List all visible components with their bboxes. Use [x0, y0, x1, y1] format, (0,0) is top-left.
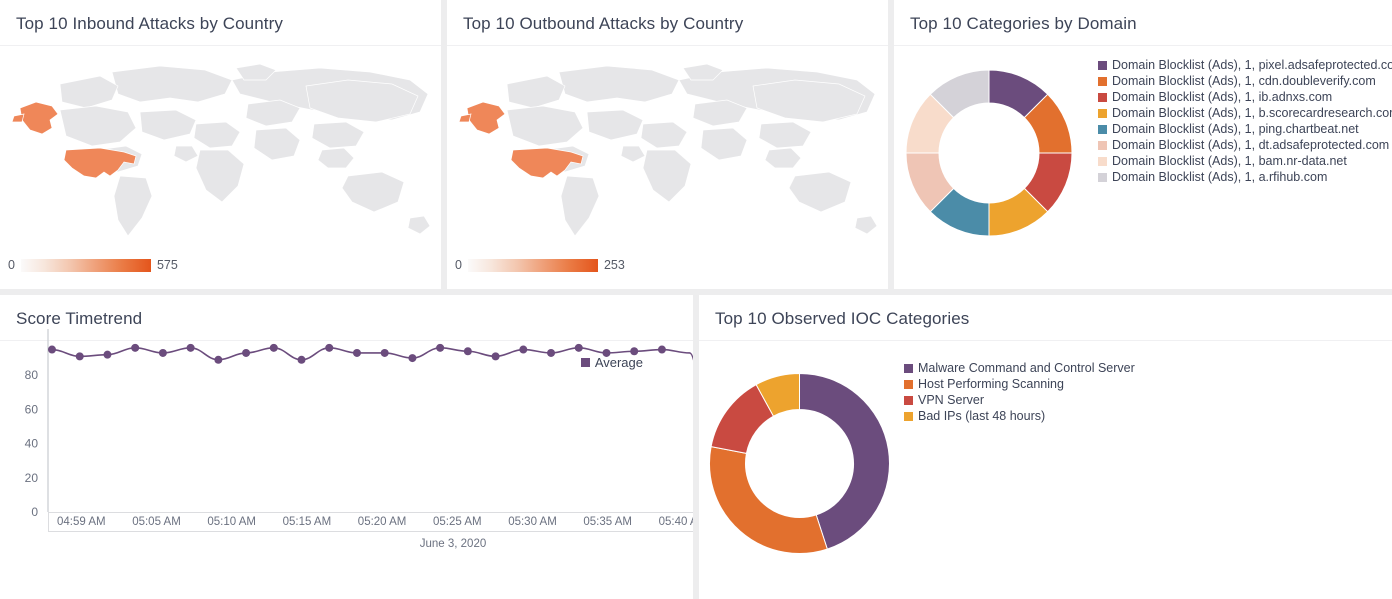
- legend-label: Domain Blocklist (Ads), 1, ping.chartbea…: [1112, 122, 1359, 137]
- x-axis-tick-label: 05:30 AM: [508, 516, 557, 528]
- legend-label: Bad IPs (last 48 hours): [918, 409, 1045, 424]
- donut-icon[interactable]: [707, 371, 892, 556]
- legend-swatch: [1098, 61, 1107, 70]
- legend-item[interactable]: VPN Server: [904, 393, 1135, 408]
- panel-title-inbound: Top 10 Inbound Attacks by Country: [0, 0, 441, 46]
- data-point[interactable]: [131, 344, 139, 352]
- panel-outbound-attacks[interactable]: Top 10 Outbound Attacks by Country: [447, 0, 888, 289]
- legend-item[interactable]: Domain Blocklist (Ads), 1, dt.adsafeprot…: [1098, 138, 1392, 153]
- panel-observed-ioc[interactable]: Top 10 Observed IOC Categories Malware C…: [699, 295, 1392, 599]
- legend-swatch: [1098, 125, 1107, 134]
- data-point[interactable]: [214, 356, 222, 364]
- outbound-map[interactable]: 0 253: [447, 46, 888, 289]
- data-point[interactable]: [76, 352, 84, 360]
- categories-donut-chart[interactable]: [904, 68, 1074, 243]
- x-axis-tick-label: 05:35 AM: [583, 516, 632, 528]
- x-axis-tick-label: 05:20 AM: [358, 516, 407, 528]
- legend-swatch: [904, 396, 913, 405]
- x-axis-tick-label: 05:40 AM: [659, 516, 693, 528]
- data-point[interactable]: [381, 349, 389, 357]
- legend-item[interactable]: Domain Blocklist (Ads), 1, cdn.doublever…: [1098, 74, 1392, 89]
- outbound-map-body[interactable]: 0 253: [447, 46, 888, 289]
- data-point[interactable]: [436, 344, 444, 352]
- legend-swatch: [1098, 77, 1107, 86]
- data-point[interactable]: [270, 344, 278, 352]
- y-axis-tick-label: 80: [25, 368, 39, 382]
- scale-min-label: 0: [455, 258, 462, 272]
- timetrend-date-label: June 3, 2020: [0, 538, 693, 550]
- ioc-donut-chart[interactable]: [707, 371, 892, 561]
- legend-item[interactable]: Domain Blocklist (Ads), 1, a.rfihub.com: [1098, 170, 1392, 185]
- data-point[interactable]: [408, 354, 416, 362]
- timetrend-body[interactable]: 020406080 04:59 AM05:05 AM05:10 AM05:15 …: [0, 295, 693, 599]
- data-point[interactable]: [464, 347, 472, 355]
- legend-item[interactable]: Bad IPs (last 48 hours): [904, 409, 1135, 424]
- legend-label: Domain Blocklist (Ads), 1, cdn.doublever…: [1112, 74, 1376, 89]
- legend-item[interactable]: Domain Blocklist (Ads), 1, b.scorecardre…: [1098, 106, 1392, 121]
- legend-label: Host Performing Scanning: [918, 377, 1064, 392]
- x-axis-tick-label: 05:15 AM: [283, 516, 332, 528]
- donut-icon[interactable]: [904, 68, 1074, 238]
- legend-swatch: [904, 364, 913, 373]
- legend-label: Domain Blocklist (Ads), 1, pixel.adsafep…: [1112, 58, 1392, 73]
- legend-swatch: [1098, 93, 1107, 102]
- scale-gradient-bar: [468, 259, 598, 272]
- x-axis-tick-label: 05:25 AM: [433, 516, 482, 528]
- y-axis-tick-label: 60: [25, 402, 39, 416]
- legend-label: Domain Blocklist (Ads), 1, bam.nr-data.n…: [1112, 154, 1347, 169]
- scale-max-label: 575: [157, 258, 178, 272]
- categories-donut-body[interactable]: Domain Blocklist (Ads), 1, pixel.adsafep…: [894, 46, 1392, 289]
- scale-gradient-bar: [21, 259, 151, 272]
- data-point[interactable]: [103, 351, 111, 359]
- legend-label: VPN Server: [918, 393, 984, 408]
- scale-max-label: 253: [604, 258, 625, 272]
- data-point[interactable]: [325, 344, 333, 352]
- data-point[interactable]: [519, 346, 527, 354]
- legend-label: Domain Blocklist (Ads), 1, a.rfihub.com: [1112, 170, 1327, 185]
- y-axis-tick-label: 20: [25, 471, 39, 485]
- data-point[interactable]: [353, 349, 361, 357]
- x-axis-tick-label: 05:05 AM: [132, 516, 181, 528]
- inbound-color-scale: 0 575: [8, 258, 178, 272]
- legend-label: Domain Blocklist (Ads), 1, ib.adnxs.com: [1112, 90, 1332, 105]
- panel-title-outbound: Top 10 Outbound Attacks by Country: [447, 0, 888, 46]
- panel-inbound-attacks[interactable]: Top 10 Inbound Attacks by Country: [0, 0, 441, 289]
- x-axis-tick-label: 05:10 AM: [207, 516, 256, 528]
- legend-swatch: [1098, 141, 1107, 150]
- legend-item[interactable]: Domain Blocklist (Ads), 1, ib.adnxs.com: [1098, 90, 1392, 105]
- dashboard-row-top: Top 10 Inbound Attacks by Country: [0, 0, 1392, 289]
- timetrend-legend[interactable]: Average: [581, 355, 643, 370]
- timetrend-x-axis[interactable]: 04:59 AM05:05 AM05:10 AM05:15 AM05:20 AM…: [48, 512, 693, 532]
- categories-legend[interactable]: Domain Blocklist (Ads), 1, pixel.adsafep…: [1098, 58, 1392, 185]
- y-axis-tick-label: 40: [25, 437, 39, 451]
- ioc-legend[interactable]: Malware Command and Control ServerHost P…: [904, 361, 1135, 424]
- timetrend-line-chart[interactable]: 020406080: [0, 295, 693, 545]
- legend-label-average: Average: [595, 355, 643, 370]
- data-point[interactable]: [242, 349, 250, 357]
- data-point[interactable]: [159, 349, 167, 357]
- legend-swatch: [904, 380, 913, 389]
- timetrend-series-line: [52, 346, 693, 512]
- data-point[interactable]: [575, 344, 583, 352]
- dashboard-row-bottom: Score Timetrend 020406080 04:59 AM05:05 …: [0, 295, 1392, 599]
- inbound-map[interactable]: 0 575: [0, 46, 441, 289]
- legend-item[interactable]: Domain Blocklist (Ads), 1, pixel.adsafep…: [1098, 58, 1392, 73]
- legend-swatch: [904, 412, 913, 421]
- data-point[interactable]: [298, 356, 306, 364]
- world-map-icon: [0, 50, 441, 260]
- inbound-map-body[interactable]: 0 575: [0, 46, 441, 289]
- panel-categories-by-domain[interactable]: Top 10 Categories by Domain Domain Block…: [894, 0, 1392, 289]
- panel-title-observed-ioc: Top 10 Observed IOC Categories: [699, 295, 1392, 341]
- data-point[interactable]: [48, 346, 56, 354]
- legend-swatch: [1098, 157, 1107, 166]
- scale-min-label: 0: [8, 258, 15, 272]
- data-point[interactable]: [492, 352, 500, 360]
- legend-swatch: [1098, 173, 1107, 182]
- y-axis-tick-label: 0: [31, 505, 38, 519]
- legend-label: Malware Command and Control Server: [918, 361, 1135, 376]
- world-map-icon: [447, 50, 888, 260]
- dashboard: Top 10 Inbound Attacks by Country: [0, 0, 1392, 599]
- legend-swatch-average: [581, 358, 590, 367]
- data-point[interactable]: [547, 349, 555, 357]
- ioc-donut-body[interactable]: Malware Command and Control ServerHost P…: [699, 341, 1392, 599]
- outbound-color-scale: 0 253: [455, 258, 625, 272]
- data-point[interactable]: [658, 346, 666, 354]
- donut-segment[interactable]: [710, 447, 828, 554]
- x-axis-tick-label: 04:59 AM: [57, 516, 106, 528]
- legend-item[interactable]: Domain Blocklist (Ads), 1, ping.chartbea…: [1098, 122, 1392, 137]
- data-point[interactable]: [187, 344, 195, 352]
- panel-title-categories-by-domain: Top 10 Categories by Domain: [894, 0, 1392, 46]
- legend-swatch: [1098, 109, 1107, 118]
- legend-label: Domain Blocklist (Ads), 1, dt.adsafeprot…: [1112, 138, 1389, 153]
- legend-item[interactable]: Domain Blocklist (Ads), 1, bam.nr-data.n…: [1098, 154, 1392, 169]
- legend-label: Domain Blocklist (Ads), 1, b.scorecardre…: [1112, 106, 1392, 121]
- panel-score-timetrend[interactable]: Score Timetrend 020406080 04:59 AM05:05 …: [0, 295, 693, 599]
- legend-item[interactable]: Host Performing Scanning: [904, 377, 1135, 392]
- legend-item[interactable]: Malware Command and Control Server: [904, 361, 1135, 376]
